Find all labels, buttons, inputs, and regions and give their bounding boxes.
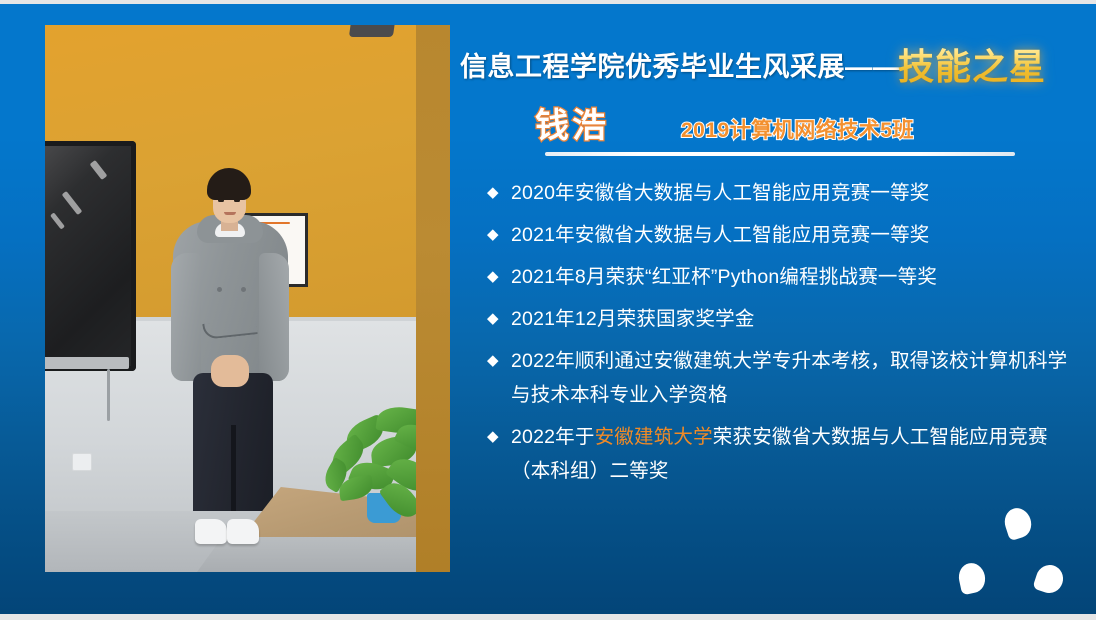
achievement-item: ◆2021年安徽省大数据与人工智能应用竞赛一等奖 (487, 218, 1087, 252)
achievement-text: 2022年顺利通过安徽建筑大学专升本考核，取得该校计算机科学与技术本科专业入学资… (511, 344, 1087, 412)
achievement-text-prefix: 2022年于 (511, 426, 595, 448)
achievement-item: ◆2021年8月荣获“红亚杯”Python编程挑战赛一等奖 (487, 260, 1087, 294)
slide-content: 信息工程学院优秀毕业生风采展—— 技能之星 钱浩 2019计算机网络技术5班 ◆… (455, 0, 1096, 620)
headline-main-text: 信息工程学院优秀毕业生风采展—— (460, 45, 900, 84)
diamond-bullet-icon: ◆ (487, 420, 511, 454)
diamond-bullet-icon: ◆ (487, 344, 511, 378)
photo-ceiling-fixture (349, 25, 395, 37)
photo-person-right-shoe (227, 519, 259, 544)
slide-canvas: 信息工程学院优秀毕业生风采展—— 技能之星 钱浩 2019计算机网络技术5班 ◆… (0, 0, 1096, 620)
achievement-text: 2021年12月荣获国家奖学金 (511, 302, 1087, 336)
photo-person-right-sleeve (259, 253, 289, 381)
achievement-highlight: 安徽建筑大学 (595, 426, 713, 448)
top-edge-rule (0, 0, 1096, 4)
photo-person-left-shoe (195, 519, 227, 544)
graduate-name: 钱浩 (535, 98, 609, 147)
photo-person-left-sleeve (171, 253, 201, 381)
achievement-item: ◆2022年于安徽建筑大学荣获安徽省大数据与人工智能应用竞赛（本科组）二等奖 (487, 420, 1087, 488)
photo-wall-display (45, 141, 136, 371)
diamond-bullet-icon: ◆ (487, 260, 511, 294)
header-divider (545, 152, 1015, 156)
achievement-item: ◆2020年安徽省大数据与人工智能应用竞赛一等奖 (487, 176, 1087, 210)
graduate-photo (45, 25, 450, 572)
achievement-text: 2022年于安徽建筑大学荣获安徽省大数据与人工智能应用竞赛（本科组）二等奖 (511, 420, 1087, 488)
graduate-class: 2019计算机网络技术5班 (681, 114, 914, 144)
photo-wall-outlet (72, 453, 92, 471)
achievement-list: ◆2020年安徽省大数据与人工智能应用竞赛一等奖◆2021年安徽省大数据与人工智… (487, 176, 1087, 496)
headline-star-text: 技能之星 (898, 38, 1046, 90)
bottom-edge-rule (0, 614, 1096, 620)
slide-headline: 信息工程学院优秀毕业生风采展—— 技能之星 (460, 38, 1046, 90)
achievement-item: ◆2021年12月荣获国家奖学金 (487, 302, 1087, 336)
photo-display-cable (107, 369, 110, 421)
achievement-text: 2021年安徽省大数据与人工智能应用竞赛一等奖 (511, 218, 1087, 252)
photo-display-base (45, 357, 129, 369)
photo-scene (45, 25, 450, 572)
diamond-bullet-icon: ◆ (487, 218, 511, 252)
graduate-identity: 钱浩 2019计算机网络技术5班 (535, 98, 914, 147)
diamond-bullet-icon: ◆ (487, 302, 511, 336)
achievement-item: ◆2022年顺利通过安徽建筑大学专升本考核，取得该校计算机科学与技术本科专业入学… (487, 344, 1087, 412)
photo-right-column (416, 25, 450, 572)
diamond-bullet-icon: ◆ (487, 176, 511, 210)
photo-person-hands (211, 355, 249, 387)
achievement-text: 2020年安徽省大数据与人工智能应用竞赛一等奖 (511, 176, 1087, 210)
achievement-text: 2021年8月荣获“红亚杯”Python编程挑战赛一等奖 (511, 260, 1087, 294)
